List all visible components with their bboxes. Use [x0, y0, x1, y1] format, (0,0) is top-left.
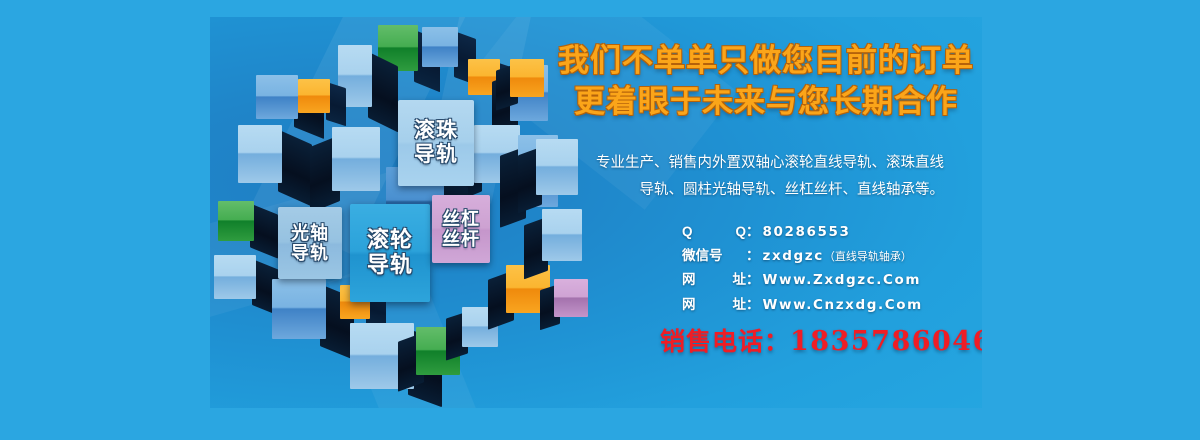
contact-row-website-2[interactable]: 网 址 ： Www.Cnzxdg.Com [682, 293, 982, 317]
contact-block: Q Q ： 80286553 微信号 ： zxdgzc （直线导轨轴承） [682, 220, 982, 317]
product-tile-line2: 丝杆 [442, 229, 480, 249]
contact-colon: ： [746, 268, 760, 291]
product-tile-line1: 丝杠 [442, 209, 480, 229]
decorative-cube [332, 127, 380, 191]
product-tile-line2: 导轨 [291, 243, 329, 263]
cube-cluster-graphic: 滚珠 导轨 光轴 导轨 滚轮 导轨 丝杠 丝杆 [210, 17, 590, 408]
product-tile-gunlun-daogui[interactable]: 滚轮 导轨 [350, 204, 430, 302]
banner-text-content: 我们不单单只做您目前的订单 更着眼于未来与您长期合作 专业生产、销售内外置双轴心… [550, 17, 982, 408]
headline-line-1: 我们不单单只做您目前的订单 [550, 41, 982, 82]
product-tile-line2: 导轨 [414, 143, 458, 167]
decorative-cube [218, 201, 254, 241]
sales-phone-label: 销售电话： [660, 328, 790, 356]
contact-value-website-2: Www.Cnzxdg.Com [763, 294, 923, 317]
contact-label-wechat: 微信号 [682, 244, 746, 267]
product-tile-line1: 光轴 [291, 223, 329, 243]
contact-note-wechat: （直线导轨轴承） [824, 248, 912, 267]
contact-row-qq[interactable]: Q Q ： 80286553 [682, 220, 982, 244]
contact-label-website: 网 址 [682, 293, 746, 316]
product-tile-line1: 滚轮 [367, 228, 413, 253]
decorative-cube [272, 279, 326, 339]
contact-colon: ： [746, 293, 760, 316]
contact-row-wechat[interactable]: 微信号 ： zxdgzc （直线导轨轴承） [682, 244, 982, 268]
contact-label-website: 网 址 [682, 268, 746, 291]
headline: 我们不单单只做您目前的订单 更着眼于未来与您长期合作 [550, 41, 982, 123]
contact-value-wechat: zxdgzc [763, 245, 824, 268]
banner-root: 滚珠 导轨 光轴 导轨 滚轮 导轨 丝杠 丝杆 我们不单单只做您目前的订单 更着… [0, 0, 1200, 440]
decorative-cube [510, 59, 544, 97]
decorative-cube [422, 27, 458, 67]
product-tile-gunzhu-daogui[interactable]: 滚珠 导轨 [398, 100, 474, 186]
contact-label-qq: Q Q [682, 220, 746, 243]
product-tile-line1: 滚珠 [414, 119, 458, 143]
contact-row-website-1[interactable]: 网 址 ： Www.Zxdgzc.Com [682, 268, 982, 292]
decorative-cube [214, 255, 256, 299]
headline-line-2: 更着眼于未来与您长期合作 [550, 82, 982, 123]
contact-colon: ： [746, 244, 760, 267]
product-tile-line2: 导轨 [367, 253, 413, 278]
subtitle-description: 专业生产、销售内外置双轴心滚轮直线导轨、滚珠直线导轨、圆柱光轴导轨、丝杠丝杆、直… [596, 150, 944, 204]
product-tile-sigang-sigan[interactable]: 丝杠 丝杆 [432, 195, 490, 263]
contact-value-website-1: Www.Zxdgzc.Com [763, 269, 922, 292]
decorative-cube [298, 79, 330, 113]
contact-colon: ： [746, 220, 760, 243]
banner-panel: 滚珠 导轨 光轴 导轨 滚轮 导轨 丝杠 丝杆 我们不单单只做您目前的订单 更着… [210, 17, 982, 408]
sales-phone[interactable]: 销售电话：18357860469 [660, 322, 982, 358]
decorative-cube [256, 75, 298, 119]
sales-phone-number: 18357860469 [790, 326, 982, 357]
contact-value-qq: 80286553 [763, 221, 851, 244]
decorative-cube [238, 125, 282, 183]
product-tile-guangzhou-daogui[interactable]: 光轴 导轨 [278, 207, 342, 279]
